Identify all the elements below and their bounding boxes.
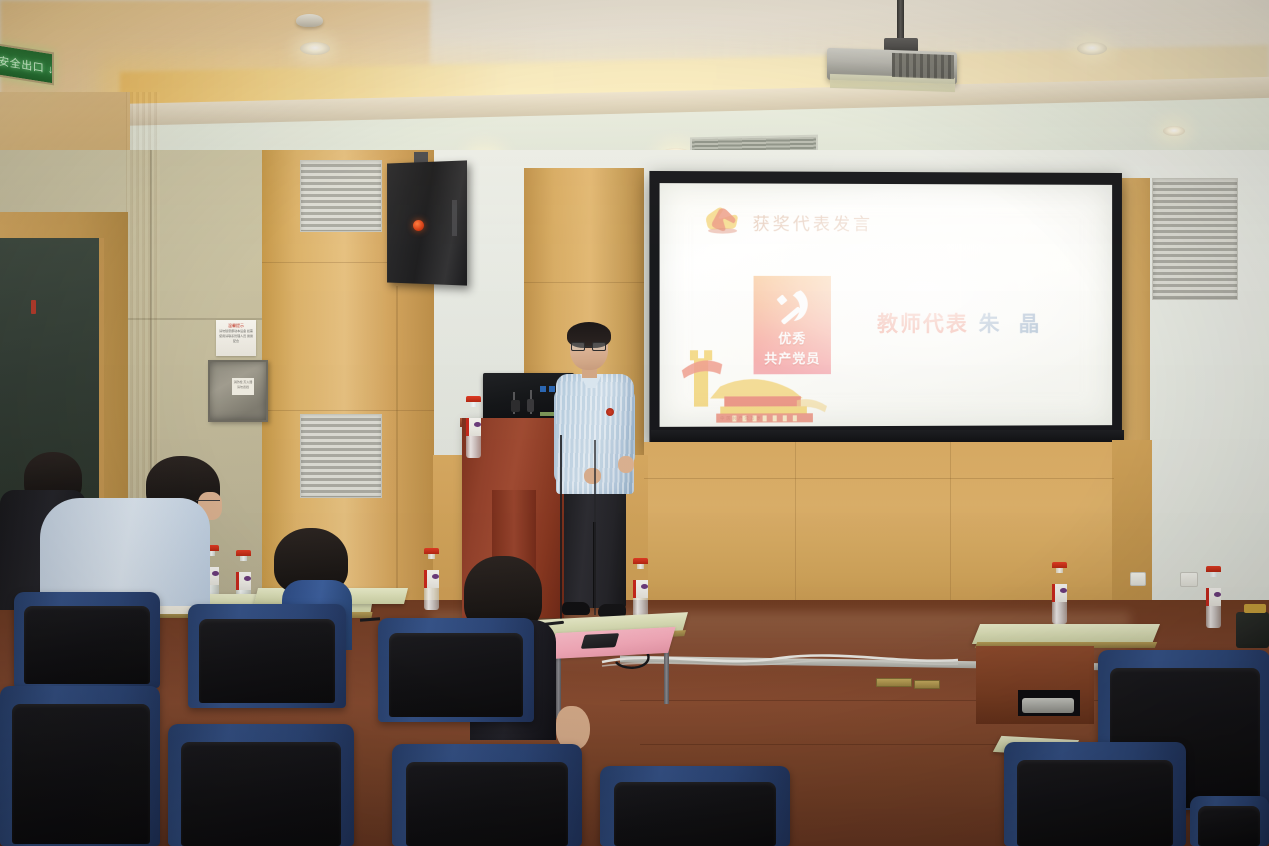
wood-panel-seam — [262, 410, 434, 411]
speaker-power-led-icon — [413, 220, 424, 231]
wall-air-vent-icon — [300, 160, 382, 232]
door-handle[interactable] — [31, 300, 36, 314]
speaker-side-handle — [452, 200, 457, 236]
water-bottle[interactable] — [1052, 562, 1067, 624]
water-bottle[interactable] — [466, 396, 481, 458]
hammer-sickle-icon — [771, 286, 813, 326]
desk-equipment-box — [1022, 698, 1074, 713]
wall-notice-sheet: 温馨提示 请勿随意挪动本设备 如需使用请联系管理人员 谢谢配合 — [216, 320, 256, 356]
bottle-label — [466, 418, 481, 436]
smartphone[interactable] — [581, 633, 620, 649]
eyeglasses-icon — [571, 342, 607, 352]
projector-ports — [892, 53, 954, 79]
stage-wall-seam — [950, 442, 951, 622]
bottle-neck — [470, 402, 477, 407]
auditorium-chair[interactable] — [0, 686, 160, 846]
floor-plank-line — [620, 700, 1180, 701]
notice-body: 请勿随意挪动本设备 如需使用请联系管理人员 谢谢配合 — [219, 329, 253, 344]
slide-surface: 获奖代表发言 优秀 共产党员 教师代表朱 晶 — [660, 183, 1113, 427]
auditorium-chair[interactable] — [600, 766, 790, 846]
wall-air-vent-icon — [300, 414, 382, 498]
ceiling-downlight — [1163, 126, 1185, 136]
wood-panel-seam — [396, 286, 398, 626]
auditorium-chair[interactable] — [378, 618, 534, 722]
slide-decoration-caption: 中国共产党万岁 — [720, 415, 762, 421]
water-bottle[interactable] — [424, 548, 439, 610]
wood-panel-seam — [524, 282, 644, 283]
microphone-cable — [576, 440, 596, 615]
ceiling-downlight — [1077, 42, 1107, 55]
water-bottle[interactable] — [633, 558, 648, 620]
projection-screen: 获奖代表发言 优秀 共产党员 教师代表朱 晶 — [649, 171, 1122, 443]
power-outlet-icon[interactable] — [1130, 572, 1146, 586]
bottle-body — [466, 418, 481, 458]
floor-power-outlet-icon[interactable] — [876, 678, 912, 687]
power-outlet-icon[interactable] — [1180, 572, 1198, 587]
bag-accent — [1244, 604, 1266, 613]
presenter-lapel-badge — [606, 408, 614, 416]
auditorium-chair[interactable] — [14, 592, 160, 688]
slide-main-line: 教师代表朱 晶 — [877, 308, 1045, 338]
cabinet-label: 消防栓 灭火器 请勿遮挡 — [232, 378, 254, 395]
slide-header-title: 获奖代表发言 — [753, 210, 873, 235]
stage-wall-paneling — [1112, 440, 1152, 620]
microphone-icon — [527, 399, 534, 412]
water-bottle[interactable] — [1206, 566, 1221, 628]
audience-desk — [972, 624, 1160, 644]
projector-mount-rod — [897, 0, 904, 42]
ceiling-downlight — [300, 42, 330, 55]
auditorium-chair[interactable] — [1190, 796, 1269, 846]
stage-wall-seam — [795, 442, 796, 622]
stage-wall-seam — [644, 478, 1114, 479]
floor-power-outlet-icon[interactable] — [914, 680, 940, 689]
conference-hall-photo: 安全出口 ↓ 温馨提示 请勿随意挪动本设备 如需使用请联系管理人员 谢谢配合 消… — [0, 0, 1269, 846]
auditorium-chair[interactable] — [188, 604, 346, 708]
eyeglasses-icon — [196, 500, 220, 504]
slide-person-name: 朱 晶 — [979, 312, 1046, 336]
slide-role-label: 教师代表 — [877, 312, 969, 336]
auditorium-chair[interactable] — [1004, 742, 1186, 846]
exit-sign-label: 安全出口 ↓ — [0, 52, 54, 77]
presenter-hand — [618, 456, 634, 473]
wall-air-vent-icon — [1152, 178, 1238, 300]
auditorium-chair[interactable] — [392, 744, 582, 846]
microphone-icon — [511, 400, 520, 412]
smoke-detector-icon — [296, 14, 323, 27]
auditorium-chair[interactable] — [168, 724, 354, 846]
bag — [1236, 612, 1269, 648]
party-emblem-icon — [702, 205, 744, 235]
tiananmen-gate-icon — [676, 340, 837, 427]
audience-person-body — [40, 498, 210, 606]
stage-wall-paneling — [644, 442, 1114, 622]
